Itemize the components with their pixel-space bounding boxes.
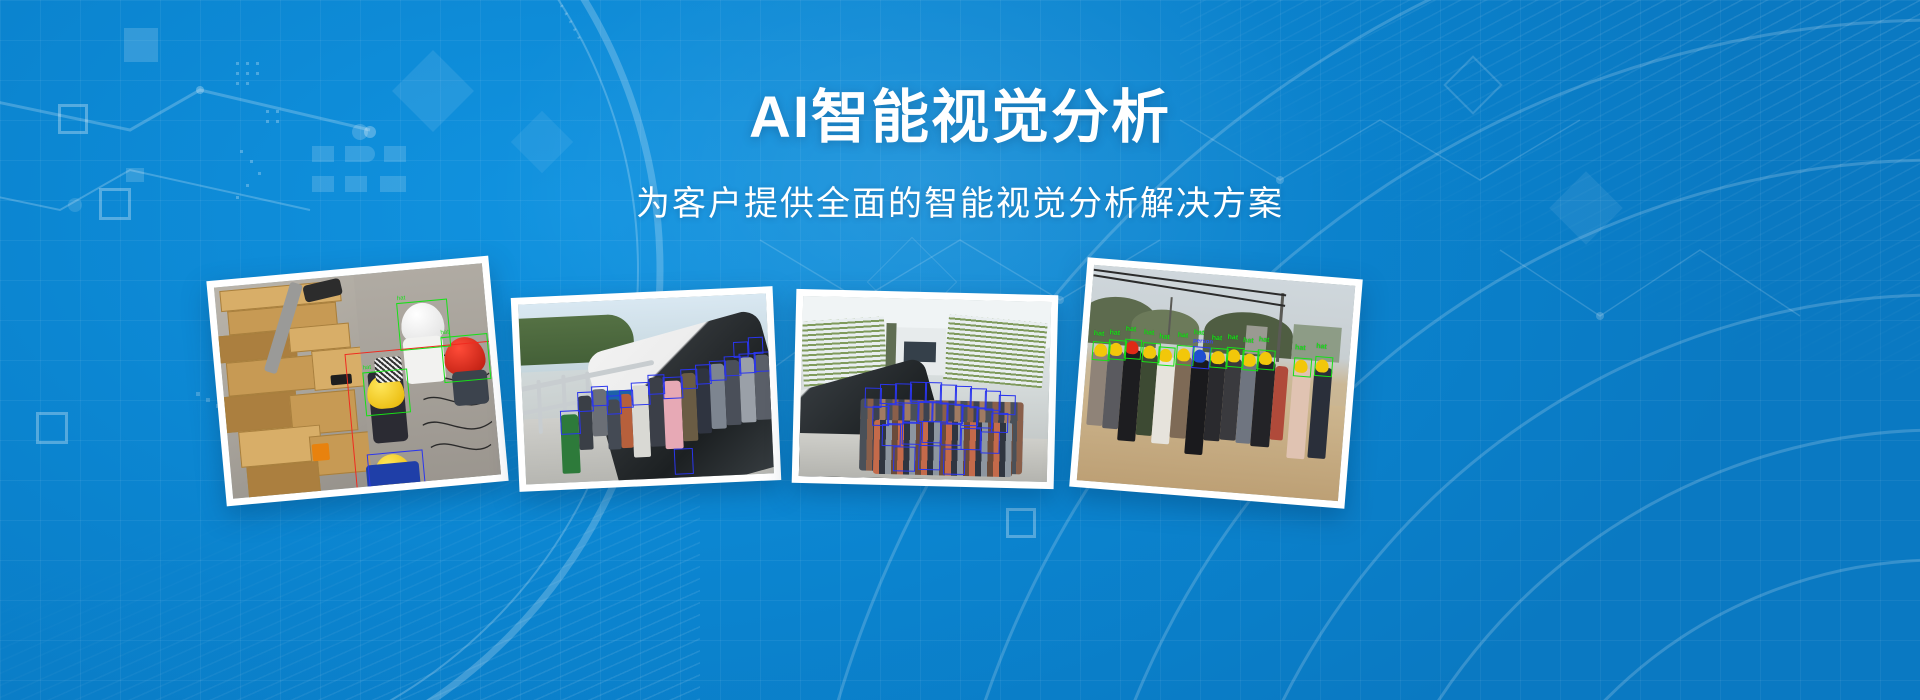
page-subtitle: 为客户提供全面的智能视觉分析解决方案 xyxy=(0,184,1920,225)
detection-box xyxy=(367,450,426,495)
gallery-photo-station-crowd-detection[interactable] xyxy=(792,289,1059,489)
detection-box: hat xyxy=(362,368,411,416)
photo-strip: hat hat hat xyxy=(0,250,1920,550)
decor-filled-square xyxy=(124,28,158,62)
ai-vision-banner: AI智能视觉分析 为客户提供全面的智能视觉分析解决方案 xyxy=(0,0,1920,700)
gallery-photo-site-hat-detection[interactable]: hat hat hat hat hat hat person hat hat xyxy=(1069,257,1363,508)
gallery-photo-skywalk-crowd-detection[interactable] xyxy=(511,286,782,492)
page-title: AI智能视觉分析 xyxy=(0,86,1920,150)
banner-text-block: AI智能视觉分析 为客户提供全面的智能视觉分析解决方案 xyxy=(0,86,1920,225)
gallery-photo-warehouse-helmet-detection[interactable]: hat hat hat xyxy=(206,256,508,507)
detection-box: hat xyxy=(440,333,492,384)
